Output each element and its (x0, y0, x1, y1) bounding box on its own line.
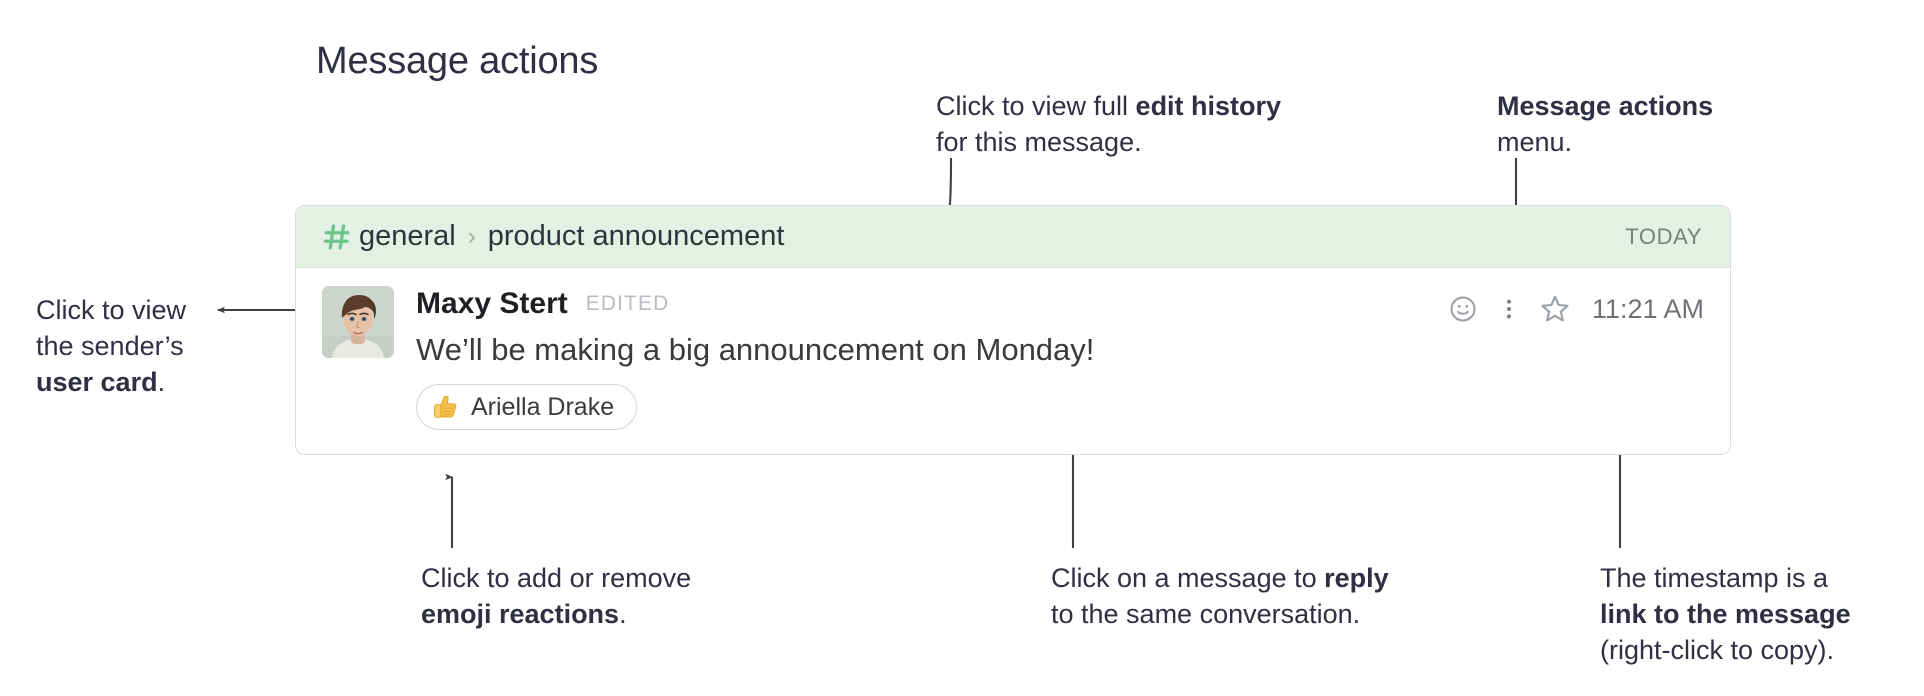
anno-text: the sender’s (36, 328, 186, 364)
anno-text: to the same conversation. (1051, 596, 1389, 632)
annotation-emoji-reactions: Click to add or remove emoji reactions. (421, 560, 691, 632)
annotation-reply: Click on a message to reply to the same … (1051, 560, 1389, 632)
reactions-row: Ariella Drake (416, 384, 1704, 430)
anno-text: Click to add or remove (421, 560, 691, 596)
thumbs-up-emoji (431, 393, 459, 421)
anno-text: . (619, 599, 627, 629)
anno-text: for this message. (936, 124, 1281, 160)
breadcrumb-channel[interactable]: general (359, 220, 456, 253)
message-text[interactable]: We’ll be making a big announcement on Mo… (416, 328, 1704, 372)
anno-emphasis: edit history (1136, 91, 1282, 121)
hash-icon (322, 222, 352, 252)
anno-emphasis: link to the message (1600, 599, 1851, 629)
reaction-pill[interactable]: Ariella Drake (416, 384, 637, 430)
page-title: Message actions (316, 40, 598, 83)
sender-name[interactable]: Maxy Stert (416, 287, 568, 321)
message-actions-toolbar: 11:21 AM (1440, 290, 1704, 328)
annotation-timestamp-link: The timestamp is a link to the message (… (1600, 560, 1851, 668)
breadcrumb-separator-icon: › (468, 225, 476, 249)
emoji-smiley-icon[interactable] (1440, 290, 1486, 328)
annotation-user-card: Click to view the sender’s user card. (36, 292, 186, 400)
message-row[interactable]: Maxy Stert EDITED We’ll be making a big … (296, 268, 1730, 430)
vertical-dots-icon[interactable] (1486, 290, 1532, 328)
anno-emphasis: reply (1324, 563, 1389, 593)
anno-emphasis: Message actions (1497, 91, 1713, 121)
user-avatar-photo (322, 286, 394, 358)
edited-badge[interactable]: EDITED (586, 292, 670, 316)
message-card: general › product announcement TODAY (295, 205, 1731, 455)
reaction-user-name: Ariella Drake (471, 393, 614, 422)
star-outline-icon[interactable] (1532, 290, 1578, 328)
date-label: TODAY (1625, 224, 1702, 250)
anno-text: . (158, 367, 166, 397)
message-timestamp[interactable]: 11:21 AM (1592, 294, 1704, 325)
channel-header: general › product announcement TODAY (296, 206, 1730, 268)
anno-text: Click to view full (936, 91, 1136, 121)
anno-text: Click on a message to (1051, 563, 1324, 593)
anno-text: menu. (1497, 124, 1713, 160)
anno-text: (right-click to copy). (1600, 632, 1851, 668)
anno-text: Click to view (36, 292, 186, 328)
anno-text: The timestamp is a (1600, 560, 1851, 596)
anno-emphasis: emoji reactions (421, 599, 619, 629)
annotation-actions-menu: Message actions menu. (1497, 88, 1713, 160)
avatar[interactable] (322, 286, 394, 358)
anno-emphasis: user card (36, 367, 158, 397)
annotation-edit-history: Click to view full edit history for this… (936, 88, 1281, 160)
breadcrumb-topic[interactable]: product announcement (488, 220, 785, 253)
